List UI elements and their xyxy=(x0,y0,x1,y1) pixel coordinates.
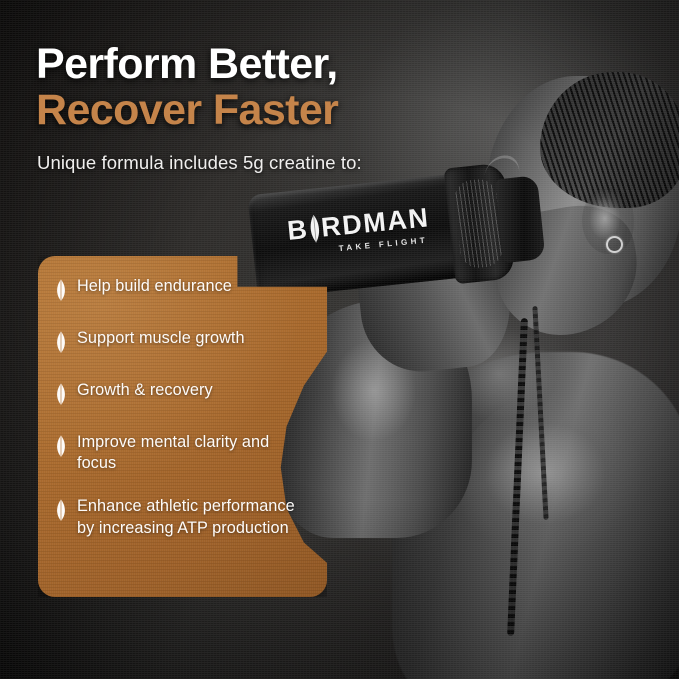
headline-line-1: Perform Better, xyxy=(36,42,476,88)
list-item-label: Enhance athletic performance by increasi… xyxy=(77,496,308,538)
promo-image: B RDMAN TAKE FLIGHT Perform Better, Reco… xyxy=(0,0,679,679)
list-item-label: Growth & recovery xyxy=(77,380,213,401)
headline: Perform Better, Recover Faster xyxy=(36,42,476,133)
feather-icon xyxy=(56,279,66,306)
list-item-label: Help build endurance xyxy=(77,276,232,297)
list-item: Enhance athletic performance by increasi… xyxy=(56,496,308,538)
list-item-label: Improve mental clarity and focus xyxy=(77,432,308,474)
feather-icon xyxy=(56,499,66,526)
list-item: Help build endurance xyxy=(56,276,308,306)
list-item: Improve mental clarity and focus xyxy=(56,432,308,474)
benefits-list: Help build endurance Support muscle grow… xyxy=(56,276,308,539)
list-item-label: Support muscle growth xyxy=(77,328,245,349)
feather-icon xyxy=(56,435,66,462)
list-item: Growth & recovery xyxy=(56,380,308,410)
headline-line-2: Recover Faster xyxy=(36,88,476,134)
list-item: Support muscle growth xyxy=(56,328,308,358)
feather-icon xyxy=(56,383,66,410)
subheadline: Unique formula includes 5g creatine to: xyxy=(37,152,362,174)
feather-icon xyxy=(56,331,66,358)
